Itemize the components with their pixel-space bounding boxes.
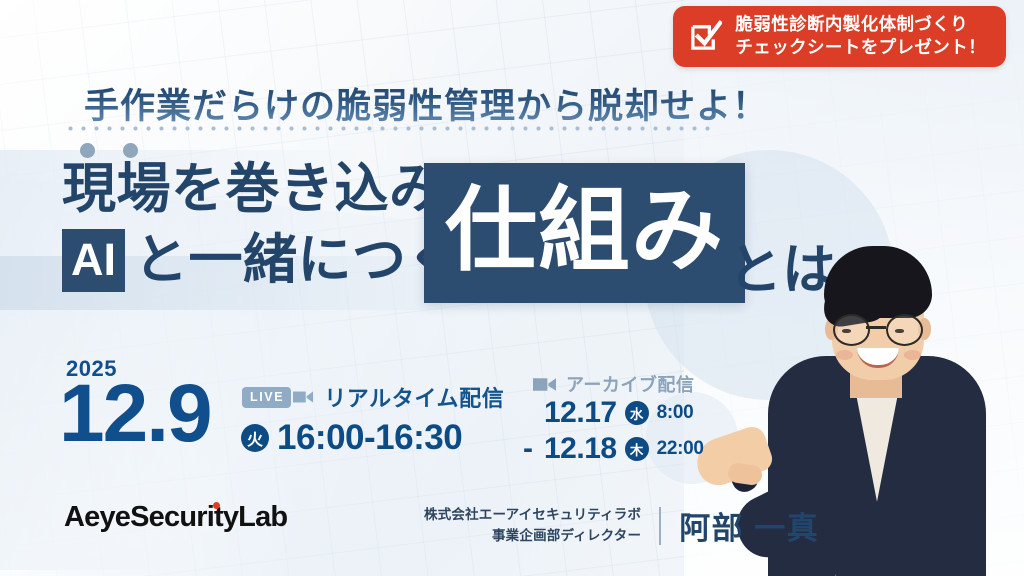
live-time-range: 16:00-16:30 [277, 418, 462, 458]
webinar-banner: 脆弱性診断内製化体制づくり チェックシートをプレゼント！ 手作業だらけの脆弱性管… [0, 0, 1024, 576]
speaker-org-line-2: 事業企画部ディレクター [424, 526, 641, 546]
glasses-lens-left [833, 314, 870, 346]
archive-dash-2: - [520, 432, 536, 466]
live-time-row: 火 16:00-16:30 [241, 418, 462, 458]
event-date: 12.9 [59, 373, 211, 455]
highlight-chip-shikumi: 仕組み [424, 163, 745, 303]
glasses-lens-right [886, 314, 923, 346]
accent-dot-2 [123, 143, 138, 158]
speaker-cheek-right [904, 350, 921, 360]
gift-badge-line-2: チェックシートをプレゼント！ [735, 38, 986, 58]
archive-header: アーカイブ配信 [533, 371, 694, 397]
archive-time-1: 8:00 [657, 402, 694, 424]
gift-badge: 脆弱性診断内製化体制づくり チェックシートをプレゼント！ [673, 6, 1006, 67]
archive-weekday-1: 水 [625, 401, 649, 425]
gift-badge-text: 脆弱性診断内製化体制づくり チェックシートをプレゼント！ [735, 15, 986, 57]
speaker-organization: 株式会社エーアイセキュリティラボ 事業企画部ディレクター [424, 505, 641, 546]
archive-date-2: 12.18 [544, 432, 617, 466]
archive-weekday-2: 木 [625, 437, 649, 461]
logo-accent-dot [213, 502, 220, 509]
live-badge: LIVE [242, 387, 313, 408]
archive-rows: 12.17 水 8:00 - 12.18 木 22:00 [520, 395, 704, 467]
accent-dot-1 [80, 143, 95, 158]
speaker-cheek-left [836, 350, 853, 360]
live-tag-label: LIVE [242, 387, 291, 408]
live-stream-header: LIVE リアルタイム配信 [242, 381, 504, 413]
archive-time-2: 22:00 [657, 438, 704, 460]
company-logo: AeyeSecurityLab [64, 501, 287, 534]
video-camera-icon [293, 389, 313, 405]
archive-row: 12.17 水 8:00 [520, 395, 704, 431]
archive-label: アーカイブ配信 [566, 371, 694, 397]
checkbox-check-icon [689, 20, 722, 53]
archive-date-1: 12.17 [544, 396, 617, 430]
speaker-name: 阿部 一真 [679, 503, 819, 548]
speaker-divider [659, 507, 661, 545]
video-camera-icon [533, 376, 556, 393]
dotted-divider [64, 126, 716, 131]
live-weekday-chip: 火 [241, 424, 269, 452]
live-stream-label: リアルタイム配信 [324, 381, 504, 413]
sub-headline: 手作業だらけの脆弱性管理から脱却せよ！ [84, 78, 768, 129]
speaker-org-line-1: 株式会社エーアイセキュリティラボ [424, 505, 641, 525]
glasses-bridge [866, 326, 886, 329]
speaker-credit: 株式会社エーアイセキュリティラボ 事業企画部ディレクター 阿部 一真 [424, 503, 819, 548]
accent-dots [80, 143, 138, 158]
ai-chip: AI [62, 229, 125, 292]
archive-row: - 12.18 木 22:00 [520, 431, 704, 467]
glasses-icon [828, 314, 928, 344]
gift-badge-line-1: 脆弱性診断内製化体制づくり [735, 15, 986, 35]
